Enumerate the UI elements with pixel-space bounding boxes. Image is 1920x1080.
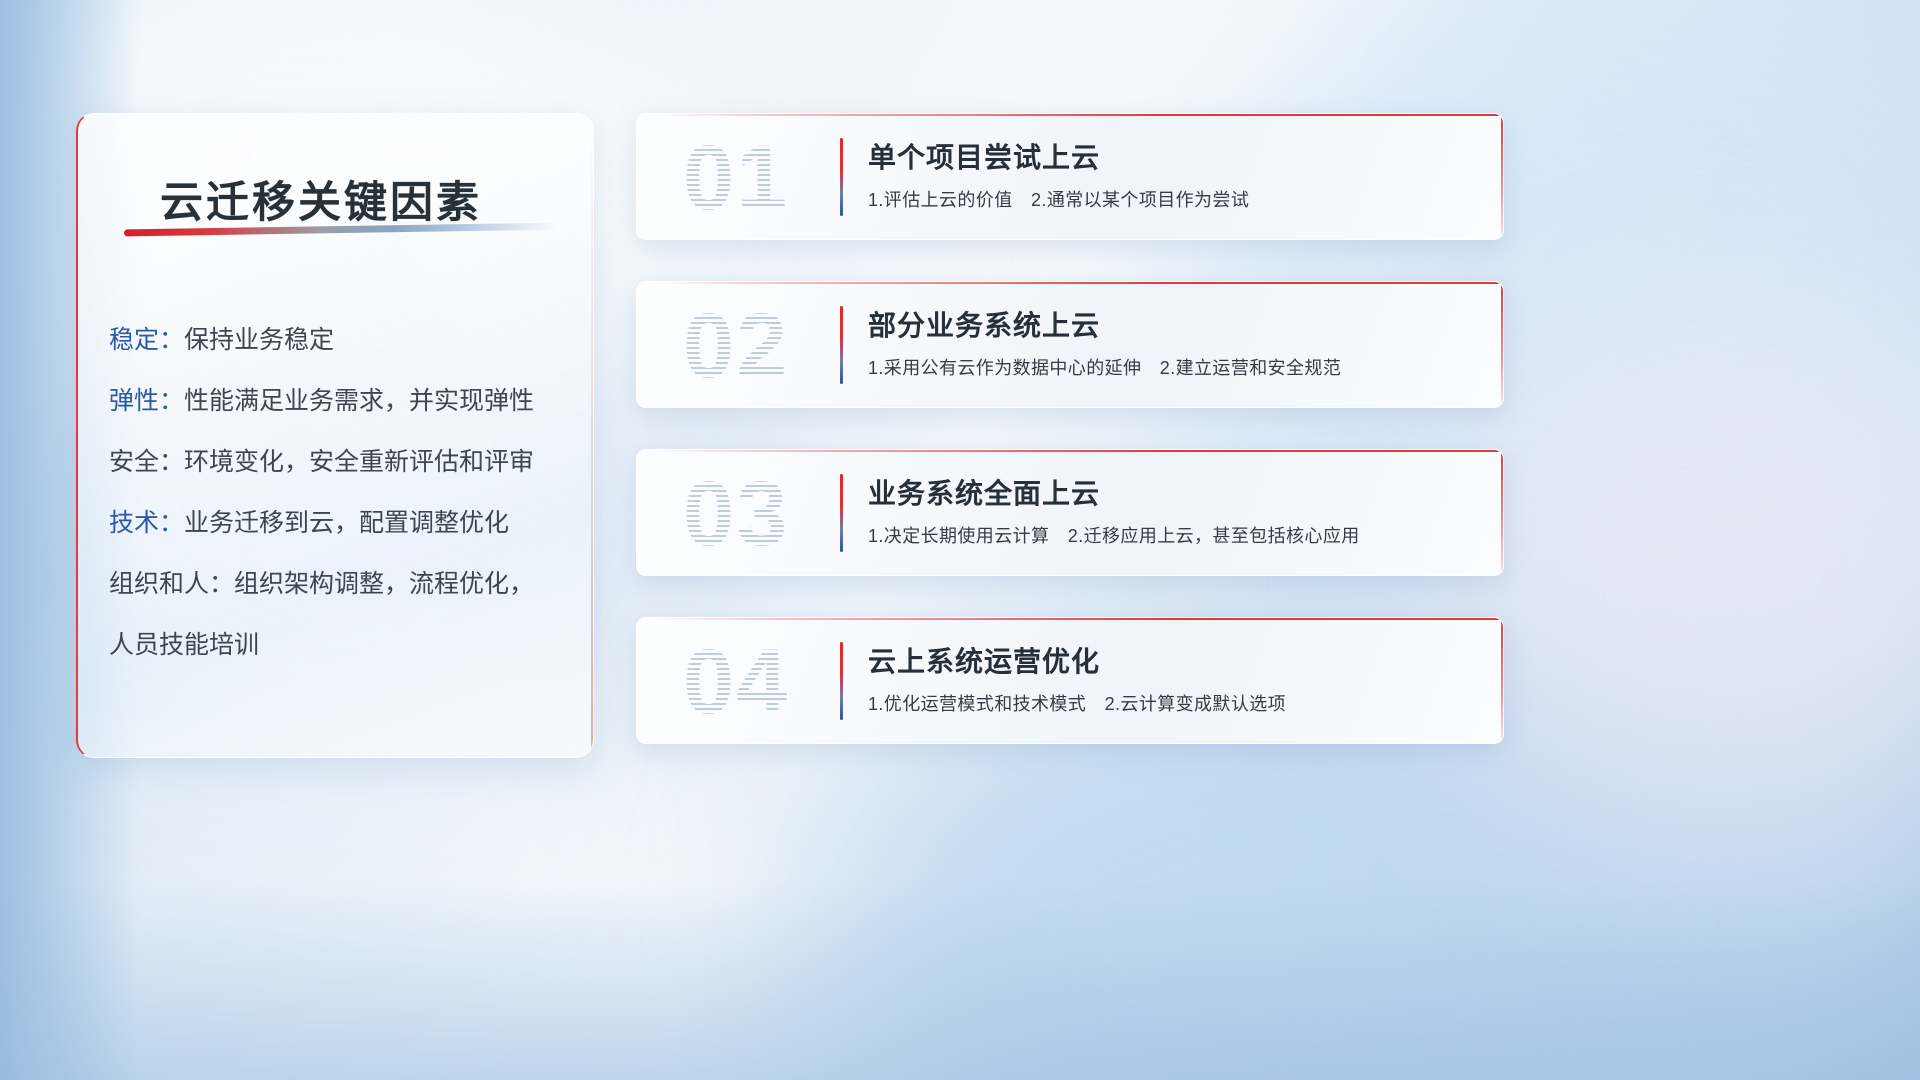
stage-description: 1.决定长期使用云计算 2.迁移应用上云，甚至包括核心应用	[868, 522, 1360, 548]
stage-accent-bar	[840, 138, 843, 216]
factor-label: 组织和人：	[109, 570, 234, 598]
stage-description: 1.优化运营模式和技术模式 2.云计算变成默认选项	[868, 690, 1286, 716]
stage-card-02[interactable]: 02 部分业务系统上云 1.采用公有云作为数据中心的延伸 2.建立运营和安全规范	[636, 281, 1504, 408]
stage-title: 部分业务系统上云	[868, 304, 1100, 344]
factor-text: 性能满足业务需求，并实现弹性	[184, 387, 534, 415]
stage-accent-bar	[840, 474, 843, 552]
key-factors-list: 稳定：保持业务稳定 弹性：性能满足业务需求，并实现弹性 安全：环境变化，安全重新…	[109, 310, 575, 676]
stage-title: 云上系统运营优化	[868, 640, 1100, 680]
stage-card-01[interactable]: 01 单个项目尝试上云 1.评估上云的价值 2.通常以某个项目作为尝试	[636, 113, 1504, 240]
stage-description: 1.评估上云的价值 2.通常以某个项目作为尝试	[868, 186, 1249, 212]
stage-accent-bar	[840, 642, 843, 720]
factor-label: 技术：	[109, 509, 184, 537]
list-item-continuation: 人员技能培训	[109, 615, 575, 676]
factor-text: 保持业务稳定	[184, 326, 334, 354]
stage-card-list: 01 单个项目尝试上云 1.评估上云的价值 2.通常以某个项目作为尝试 02 部…	[636, 113, 1504, 785]
list-item: 稳定：保持业务稳定	[109, 310, 575, 371]
factor-label: 弹性：	[109, 387, 184, 415]
list-item: 弹性：性能满足业务需求，并实现弹性	[109, 371, 575, 432]
stage-number-watermark: 01	[683, 124, 843, 232]
stage-number-watermark: 03	[683, 460, 843, 568]
stage-number-watermark: 02	[683, 292, 843, 400]
factor-text: 业务迁移到云，配置调整优化	[184, 509, 509, 537]
factor-label: 安全：	[109, 448, 184, 476]
background-bottom-edge	[0, 880, 1920, 1080]
stage-title: 业务系统全面上云	[868, 472, 1100, 512]
factor-text: 环境变化，安全重新评估和评审	[184, 448, 534, 476]
list-item: 安全：环境变化，安全重新评估和评审	[109, 432, 575, 493]
stage-accent-bar	[840, 306, 843, 384]
page-title: 云迁移关键因素	[160, 168, 482, 230]
stage-title: 单个项目尝试上云	[868, 136, 1100, 176]
key-factors-panel: 云迁移关键因素 稳定：保持业务稳定 弹性：性能满足业务需求，并实现弹性 安全：环…	[76, 113, 594, 758]
factor-text: 组织架构调整，流程优化，	[234, 570, 534, 598]
stage-number-watermark: 04	[683, 628, 843, 736]
list-item: 技术：业务迁移到云，配置调整优化	[109, 493, 575, 554]
stage-description: 1.采用公有云作为数据中心的延伸 2.建立运营和安全规范	[868, 354, 1341, 380]
stage-card-04[interactable]: 04 云上系统运营优化 1.优化运营模式和技术模式 2.云计算变成默认选项	[636, 617, 1504, 744]
list-item: 组织和人：组织架构调整，流程优化，	[109, 554, 575, 615]
factor-text: 人员技能培训	[109, 631, 259, 659]
factor-label: 稳定：	[109, 326, 184, 354]
stage-card-03[interactable]: 03 业务系统全面上云 1.决定长期使用云计算 2.迁移应用上云，甚至包括核心应…	[636, 449, 1504, 576]
